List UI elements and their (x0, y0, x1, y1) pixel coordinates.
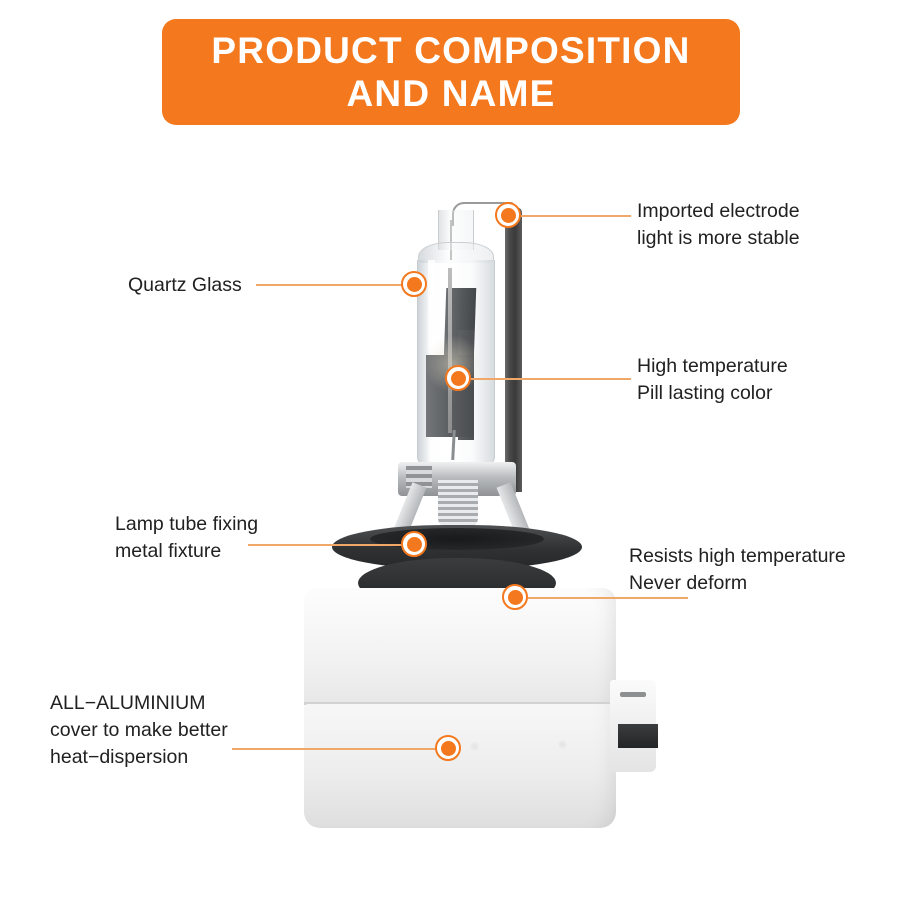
callout-label-line: metal fixture (115, 538, 258, 565)
header-title-line-1: PRODUCT COMPOSITION (211, 29, 690, 72)
callout-label-line: Never deform (629, 570, 846, 597)
product-image-xenon-bulb (300, 180, 700, 840)
leader-line-resists-high-temperature (528, 597, 688, 599)
callout-marker-all-aluminium-cover[interactable] (435, 735, 461, 761)
callout-label-line: Quartz Glass (128, 272, 242, 299)
callout-marker-quartz-glass[interactable] (401, 271, 427, 297)
metal-fixture-center (438, 480, 478, 528)
leader-line-lamp-tube-fixing-metal-fixture (248, 544, 402, 546)
callout-marker-lamp-tube-fixing-metal-fixture[interactable] (401, 531, 427, 557)
callout-label-line: Resists high temperature (629, 543, 846, 570)
callout-label-line: light is more stable (637, 225, 800, 252)
white-base-lower (304, 704, 616, 828)
base-dimple-right (558, 740, 567, 749)
callout-label-line: High temperature (637, 353, 788, 380)
callout-label-resists-high-temperature: Resists high temperatureNever deform (629, 543, 846, 597)
callout-label-line: Pill lasting color (637, 380, 788, 407)
leader-line-quartz-glass (256, 284, 402, 286)
callout-label-line: Lamp tube fixing (115, 511, 258, 538)
dark-vertical-rod (505, 207, 522, 492)
connector-slot-icon (620, 692, 646, 697)
white-base-upper (304, 588, 616, 706)
base-dimple-left (470, 742, 479, 751)
callout-marker-resists-high-temperature[interactable] (502, 584, 528, 610)
leader-line-imported-electrode (521, 215, 631, 217)
black-collar-hole (370, 528, 544, 550)
callout-label-quartz-glass: Quartz Glass (128, 272, 242, 299)
callout-label-lamp-tube-fixing-metal-fixture: Lamp tube fixingmetal fixture (115, 511, 258, 565)
callout-label-imported-electrode: Imported electrodelight is more stable (637, 198, 800, 252)
callout-label-line: ALL−ALUMINIUM (50, 690, 228, 717)
header-title-line-2: AND NAME (347, 72, 556, 115)
callout-label-high-temperature-pill: High temperaturePill lasting color (637, 353, 788, 407)
callout-marker-imported-electrode[interactable] (495, 202, 521, 228)
leader-line-high-temperature-pill (471, 378, 631, 380)
callout-label-line: Imported electrode (637, 198, 800, 225)
callout-label-line: heat−dispersion (50, 744, 228, 771)
callout-marker-high-temperature-pill[interactable] (445, 365, 471, 391)
header-banner: PRODUCT COMPOSITION AND NAME (162, 19, 740, 125)
connector-dark-band (618, 724, 658, 748)
callout-label-all-aluminium-cover: ALL−ALUMINIUMcover to make betterheat−di… (50, 690, 228, 771)
callout-label-line: cover to make better (50, 717, 228, 744)
leader-line-all-aluminium-cover (232, 748, 436, 750)
